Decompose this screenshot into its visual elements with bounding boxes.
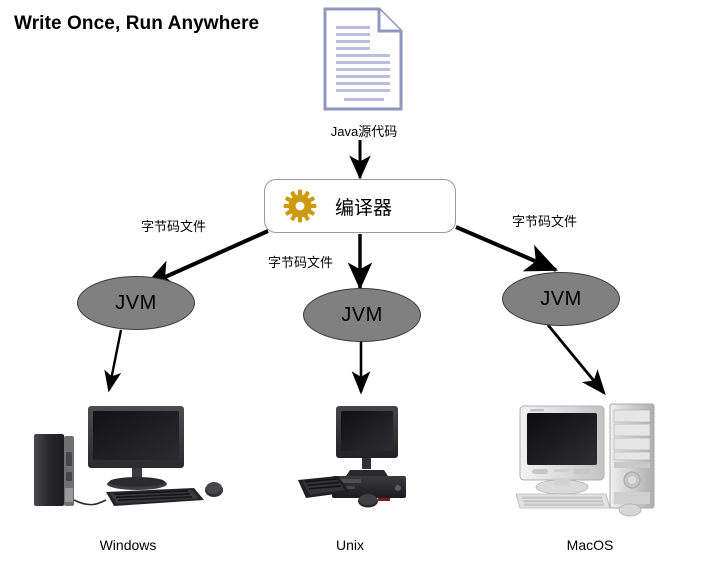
platform-label-windows: Windows	[66, 537, 190, 553]
arrow-compiler-to-jvm-windows	[145, 231, 268, 286]
platform-label-macos: MacOS	[528, 537, 652, 553]
bytecode-label-right: 字节码文件	[512, 211, 577, 230]
desktop-computer-icon-unix	[292, 400, 408, 510]
arrow-jvm-to-macos	[548, 325, 604, 393]
bytecode-label-left: 字节码文件	[141, 216, 206, 235]
desktop-computer-icon-windows	[28, 396, 228, 512]
platform-label-unix: Unix	[288, 537, 412, 553]
arrow-compiler-to-jvm-macos	[456, 227, 556, 270]
diagram-canvas: Write Once, Run Anywhere Java源代码	[0, 0, 702, 569]
bytecode-label-middle: 字节码文件	[268, 252, 333, 271]
jvm-label: JVM	[115, 292, 157, 315]
jvm-node-windows[interactable]: JVM	[77, 276, 195, 330]
arrow-jvm-to-windows	[109, 330, 121, 390]
jvm-label: JVM	[540, 288, 582, 311]
jvm-node-unix[interactable]: JVM	[303, 288, 421, 342]
jvm-label: JVM	[341, 304, 383, 327]
jvm-node-macos[interactable]: JVM	[502, 272, 620, 326]
desktop-computer-icon-macos	[514, 398, 664, 518]
